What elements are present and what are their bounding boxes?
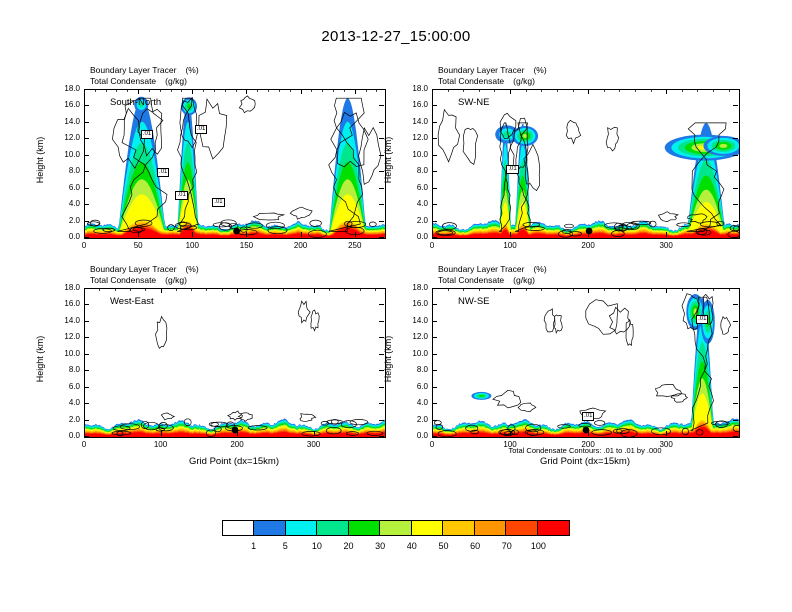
y-axis-tick-right [733, 204, 738, 205]
x-axis-minor-tick [697, 288, 698, 291]
y-axis-tick-right [733, 237, 738, 238]
y-axis-tick-right [733, 403, 738, 404]
x-axis-minor-tick [130, 288, 131, 291]
y-axis-tick-label: 14.0 [398, 316, 428, 325]
y-axis-tick-label: 0.0 [50, 232, 80, 241]
colorbar-tick-label: 100 [518, 541, 558, 551]
x-axis-minor-tick [635, 89, 636, 92]
panel-name-label: South-North [110, 97, 161, 108]
y-axis-tick-label: 18.0 [50, 84, 80, 93]
y-axis-tick-right [733, 188, 738, 189]
y-axis-tick [432, 436, 437, 437]
x-axis-minor-tick [225, 89, 226, 92]
y-axis-tick-label: 10.0 [50, 349, 80, 358]
x-axis-minor-tick [375, 288, 376, 291]
figure-canvas: 2013-12-27_15:00:00 Boundary Layer Trace… [0, 0, 792, 612]
plot-area: .01.01.01.01.01 [84, 89, 386, 239]
y-axis-tick [432, 155, 437, 156]
y-axis-tick [84, 436, 89, 437]
y-axis-tick-right [733, 221, 738, 222]
condensate-field-unit: (g/kg) [165, 275, 187, 286]
x-axis-tick [432, 431, 433, 436]
x-axis-minor-tick [257, 89, 258, 92]
y-axis-tick [432, 370, 437, 371]
y-axis-tick-label: 14.0 [50, 316, 80, 325]
condensate-field-unit: (g/kg) [513, 76, 535, 87]
y-axis-tick [84, 171, 89, 172]
tracer-field-label: Boundary Layer Tracer [90, 65, 176, 76]
x-axis-minor-tick [713, 89, 714, 92]
y-axis-tick [432, 337, 437, 338]
panel-name-label: West-East [110, 296, 154, 307]
y-axis-tick-label: 8.0 [50, 365, 80, 374]
y-axis-tick-right [733, 321, 738, 322]
x-axis-tick [432, 232, 433, 237]
contour-level-label: .01 [696, 315, 708, 324]
plot-area [84, 288, 386, 438]
x-axis-title-left: Grid Point (dx=15km) [84, 456, 384, 467]
y-axis-tick [84, 204, 89, 205]
condensate-field-label: Total Condensate [90, 275, 156, 286]
y-axis-tick-right [379, 436, 384, 437]
y-axis-tick-label: 0.0 [50, 431, 80, 440]
colorbar [222, 520, 570, 536]
y-axis-tick-right [733, 105, 738, 106]
y-axis-tick [432, 105, 437, 106]
condensate-field-label: Total Condensate [438, 76, 504, 87]
x-axis-minor-tick [510, 288, 511, 291]
x-axis-minor-tick [298, 288, 299, 291]
y-axis-tick [84, 420, 89, 421]
x-axis-tick [588, 431, 589, 436]
x-axis-minor-tick [479, 89, 480, 92]
x-axis-minor-tick [99, 288, 100, 291]
y-axis-tick-label: 6.0 [398, 382, 428, 391]
y-axis-tick-right [733, 354, 738, 355]
x-axis-minor-tick [246, 89, 247, 92]
x-axis-minor-tick [682, 288, 683, 291]
x-axis-minor-tick [604, 288, 605, 291]
x-axis-minor-tick [541, 89, 542, 92]
y-axis-tick-right [733, 370, 738, 371]
y-axis-tick [84, 337, 89, 338]
y-axis-tick [432, 122, 437, 123]
tracer-field-unit: (%) [185, 264, 198, 275]
x-axis-minor-tick [526, 288, 527, 291]
x-axis-minor-tick [116, 89, 117, 92]
x-axis-minor-tick [333, 89, 334, 92]
y-axis-tick [84, 138, 89, 139]
x-axis-tick-label: 200 [217, 440, 257, 449]
y-axis-tick [432, 403, 437, 404]
x-axis-minor-tick [526, 89, 527, 92]
x-axis-tick-label: 100 [490, 241, 530, 250]
y-axis-tick [84, 304, 89, 305]
y-axis-tick-right [733, 436, 738, 437]
colorbar-cell [317, 521, 348, 535]
y-axis-tick [84, 387, 89, 388]
y-axis-tick-label: 12.0 [50, 332, 80, 341]
y-axis-tick-label: 4.0 [398, 398, 428, 407]
y-axis-tick-label: 10.0 [398, 150, 428, 159]
x-axis-minor-tick [619, 288, 620, 291]
y-axis-tick-label: 10.0 [50, 150, 80, 159]
x-axis-tick [355, 232, 356, 237]
x-axis-minor-tick [192, 89, 193, 92]
x-axis-minor-tick [666, 89, 667, 92]
y-axis-tick [432, 354, 437, 355]
x-axis-minor-tick [355, 89, 356, 92]
tracer-field-label: Boundary Layer Tracer [438, 264, 524, 275]
x-axis-minor-tick [588, 89, 589, 92]
x-axis-minor-tick [283, 288, 284, 291]
x-axis-tick-label: 0 [64, 241, 104, 250]
tracer-field-label: Boundary Layer Tracer [438, 65, 524, 76]
x-axis-minor-tick [314, 288, 315, 291]
y-axis-tick-label: 6.0 [50, 183, 80, 192]
x-axis-tick [246, 232, 247, 237]
colorbar-cell [349, 521, 380, 535]
y-axis-tick-label: 12.0 [50, 133, 80, 142]
x-axis-title-right: Grid Point (dx=15km) [432, 456, 738, 467]
y-axis-tick-label: 18.0 [398, 84, 428, 93]
y-axis-tick [84, 321, 89, 322]
x-axis-minor-tick [252, 288, 253, 291]
y-axis-tick [432, 221, 437, 222]
panel-name-label: SW-NE [458, 97, 490, 108]
contour-level-label: .01 [212, 198, 224, 207]
x-axis-minor-tick [290, 89, 291, 92]
colorbar-cell [506, 521, 537, 535]
tracer-field-unit: (%) [185, 65, 198, 76]
x-axis-tick-label: 0 [64, 440, 104, 449]
x-axis-minor-tick [366, 89, 367, 92]
y-axis-tick-label: 6.0 [50, 382, 80, 391]
y-axis-tick-label: 12.0 [398, 332, 428, 341]
y-axis-tick-label: 4.0 [50, 199, 80, 208]
x-axis-minor-tick [171, 89, 172, 92]
y-axis-tick-label: 2.0 [50, 415, 80, 424]
condensate-field-label: Total Condensate [438, 275, 504, 286]
x-axis-minor-tick [510, 89, 511, 92]
x-axis-tick [588, 232, 589, 237]
y-axis-tick-label: 8.0 [398, 166, 428, 175]
x-axis-minor-tick [236, 89, 237, 92]
plot-area: .01.01 [432, 288, 740, 438]
x-axis-minor-tick [448, 288, 449, 291]
x-axis-minor-tick [322, 89, 323, 92]
x-axis-tick-label: 300 [646, 241, 686, 250]
x-axis-minor-tick [301, 89, 302, 92]
x-axis-minor-tick [329, 288, 330, 291]
x-axis-minor-tick [729, 288, 730, 291]
panel-name-label: NW-SE [458, 296, 490, 307]
tracer-field-unit: (%) [533, 264, 546, 275]
y-axis-tick-label: 16.0 [50, 299, 80, 308]
x-axis-tick [510, 431, 511, 436]
y-axis-tick [84, 354, 89, 355]
x-axis-tick [84, 431, 85, 436]
y-axis-tick-label: 18.0 [398, 283, 428, 292]
y-axis-tick [84, 188, 89, 189]
y-axis-tick-label: 2.0 [398, 415, 428, 424]
y-axis-tick-label: 4.0 [50, 398, 80, 407]
x-axis-minor-tick [376, 89, 377, 92]
panel-header: Boundary Layer Tracer(%)Total Condensate… [90, 65, 199, 86]
y-axis-tick [432, 420, 437, 421]
y-axis-tick-right [379, 221, 384, 222]
x-axis-minor-tick [145, 288, 146, 291]
x-axis-minor-tick [588, 288, 589, 291]
y-axis-title: Height (km) [383, 100, 393, 220]
x-axis-tick [84, 232, 85, 237]
y-axis-tick [432, 237, 437, 238]
figure-title: 2013-12-27_15:00:00 [0, 28, 792, 45]
y-axis-title: Height (km) [35, 299, 45, 419]
x-axis-minor-tick [666, 288, 667, 291]
x-axis-minor-tick [479, 288, 480, 291]
y-axis-tick [84, 237, 89, 238]
condensate-field-unit: (g/kg) [513, 275, 535, 286]
x-axis-minor-tick [713, 288, 714, 291]
colorbar-cell [380, 521, 411, 535]
x-axis-minor-tick [206, 288, 207, 291]
condensate-field-label: Total Condensate [90, 76, 156, 87]
contour-level-label: .01 [506, 165, 518, 174]
x-axis-minor-tick [344, 288, 345, 291]
x-axis-minor-tick [604, 89, 605, 92]
x-axis-minor-tick [95, 89, 96, 92]
x-axis-minor-tick [573, 288, 574, 291]
contour-level-label: .01 [141, 130, 153, 139]
colorbar-cell [254, 521, 285, 535]
contour-level-label: .01 [157, 168, 169, 177]
x-axis-minor-tick [106, 89, 107, 92]
x-axis-tick-label: 200 [281, 241, 321, 250]
panel-header: Boundary Layer Tracer(%)Total Condensate… [438, 264, 547, 285]
x-axis-minor-tick [181, 89, 182, 92]
y-axis-tick [432, 304, 437, 305]
y-axis-tick-label: 4.0 [398, 199, 428, 208]
y-axis-tick-right [733, 138, 738, 139]
y-axis-tick-label: 14.0 [398, 117, 428, 126]
y-axis-tick-label: 2.0 [398, 216, 428, 225]
x-axis-minor-tick [268, 288, 269, 291]
x-axis-minor-tick [494, 288, 495, 291]
y-axis-tick-right [733, 122, 738, 123]
y-axis-tick-right [733, 387, 738, 388]
y-axis-title: Height (km) [383, 299, 393, 419]
tracer-field-label: Boundary Layer Tracer [90, 264, 176, 275]
y-axis-tick-label: 0.0 [398, 232, 428, 241]
y-axis-tick-right [379, 420, 384, 421]
x-axis-tick-label: 300 [294, 440, 334, 449]
colorbar-cell [475, 521, 506, 535]
x-axis-minor-tick [160, 89, 161, 92]
y-axis-tick-right [733, 155, 738, 156]
x-axis-minor-tick [138, 89, 139, 92]
x-axis-minor-tick [541, 288, 542, 291]
x-axis-minor-tick [463, 89, 464, 92]
contour-interval-note: Total Condensate Contours: .01 to .01 by… [432, 446, 738, 455]
y-axis-tick [84, 370, 89, 371]
x-axis-tick-label: 50 [118, 241, 158, 250]
x-axis-minor-tick [237, 288, 238, 291]
colorbar-cell [412, 521, 443, 535]
x-axis-minor-tick [127, 89, 128, 92]
x-axis-tick-label: 200 [568, 241, 608, 250]
x-axis-tick [161, 431, 162, 436]
x-axis-minor-tick [494, 89, 495, 92]
y-axis-tick-right [733, 337, 738, 338]
y-axis-tick-right [379, 237, 384, 238]
x-axis-tick-label: 100 [172, 241, 212, 250]
x-axis-minor-tick [619, 89, 620, 92]
x-axis-minor-tick [84, 288, 85, 291]
y-axis-tick [84, 221, 89, 222]
y-axis-tick-right [733, 171, 738, 172]
x-axis-minor-tick [573, 89, 574, 92]
x-axis-minor-tick [149, 89, 150, 92]
panel-header: Boundary Layer Tracer(%)Total Condensate… [90, 264, 199, 285]
y-axis-tick-label: 8.0 [50, 166, 80, 175]
y-axis-tick-right [733, 89, 738, 90]
x-axis-tick [138, 232, 139, 237]
x-axis-minor-tick [463, 288, 464, 291]
x-axis-tick [314, 431, 315, 436]
x-axis-tick [192, 232, 193, 237]
x-axis-tick-label: 250 [335, 241, 375, 250]
y-axis-tick [432, 387, 437, 388]
x-axis-minor-tick [557, 288, 558, 291]
x-axis-minor-tick [191, 288, 192, 291]
y-axis-tick [84, 122, 89, 123]
x-axis-minor-tick [279, 89, 280, 92]
x-axis-tick [237, 431, 238, 436]
y-axis-tick-label: 18.0 [50, 283, 80, 292]
y-axis-tick-label: 14.0 [50, 117, 80, 126]
y-axis-tick-right [733, 304, 738, 305]
x-axis-minor-tick [448, 89, 449, 92]
contour-level-label: .01 [195, 125, 207, 134]
contour-level-label: .01 [582, 412, 594, 421]
x-axis-minor-tick [268, 89, 269, 92]
y-axis-tick-label: 2.0 [50, 216, 80, 225]
contour-level-label: .01 [175, 191, 187, 200]
y-axis-title: Height (km) [35, 100, 45, 220]
x-axis-tick [666, 232, 667, 237]
y-axis-tick [84, 105, 89, 106]
x-axis-minor-tick [222, 288, 223, 291]
y-axis-tick-right [379, 89, 384, 90]
y-axis-tick [84, 155, 89, 156]
colorbar-cell [223, 521, 254, 535]
x-axis-minor-tick [84, 89, 85, 92]
x-axis-tick [301, 232, 302, 237]
y-axis-tick-label: 0.0 [398, 431, 428, 440]
x-axis-tick-label: 0 [412, 241, 452, 250]
y-axis-tick [432, 188, 437, 189]
y-axis-tick-label: 16.0 [398, 299, 428, 308]
y-axis-tick [432, 204, 437, 205]
x-axis-tick [666, 431, 667, 436]
x-axis-minor-tick [203, 89, 204, 92]
tracer-field-unit: (%) [533, 65, 546, 76]
y-axis-tick-label: 12.0 [398, 133, 428, 142]
y-axis-tick-label: 6.0 [398, 183, 428, 192]
colorbar-cell [538, 521, 569, 535]
x-axis-minor-tick [115, 288, 116, 291]
x-axis-tick-label: 100 [141, 440, 181, 449]
x-axis-minor-tick [311, 89, 312, 92]
y-axis-tick [84, 403, 89, 404]
x-axis-minor-tick [360, 288, 361, 291]
x-axis-minor-tick [214, 89, 215, 92]
colorbar-cell [286, 521, 317, 535]
y-axis-tick-label: 16.0 [398, 100, 428, 109]
x-axis-minor-tick [697, 89, 698, 92]
y-axis-tick-right [379, 288, 384, 289]
y-axis-tick-label: 10.0 [398, 349, 428, 358]
y-axis-tick [432, 171, 437, 172]
x-axis-minor-tick [682, 89, 683, 92]
x-axis-minor-tick [635, 288, 636, 291]
x-axis-minor-tick [161, 288, 162, 291]
y-axis-tick-label: 16.0 [50, 100, 80, 109]
x-axis-minor-tick [176, 288, 177, 291]
x-axis-tick-label: 150 [226, 241, 266, 250]
x-axis-minor-tick [344, 89, 345, 92]
condensate-field-unit: (g/kg) [165, 76, 187, 87]
y-axis-tick-label: 8.0 [398, 365, 428, 374]
y-axis-tick-right [733, 420, 738, 421]
x-axis-minor-tick [651, 89, 652, 92]
colorbar-cell [443, 521, 474, 535]
y-axis-tick [432, 321, 437, 322]
plot-area: .01 [432, 89, 740, 239]
x-axis-minor-tick [432, 288, 433, 291]
y-axis-tick [432, 138, 437, 139]
panel-header: Boundary Layer Tracer(%)Total Condensate… [438, 65, 547, 86]
x-axis-tick [510, 232, 511, 237]
x-axis-minor-tick [432, 89, 433, 92]
x-axis-minor-tick [651, 288, 652, 291]
x-axis-minor-tick [557, 89, 558, 92]
x-axis-minor-tick [729, 89, 730, 92]
y-axis-tick-right [733, 288, 738, 289]
